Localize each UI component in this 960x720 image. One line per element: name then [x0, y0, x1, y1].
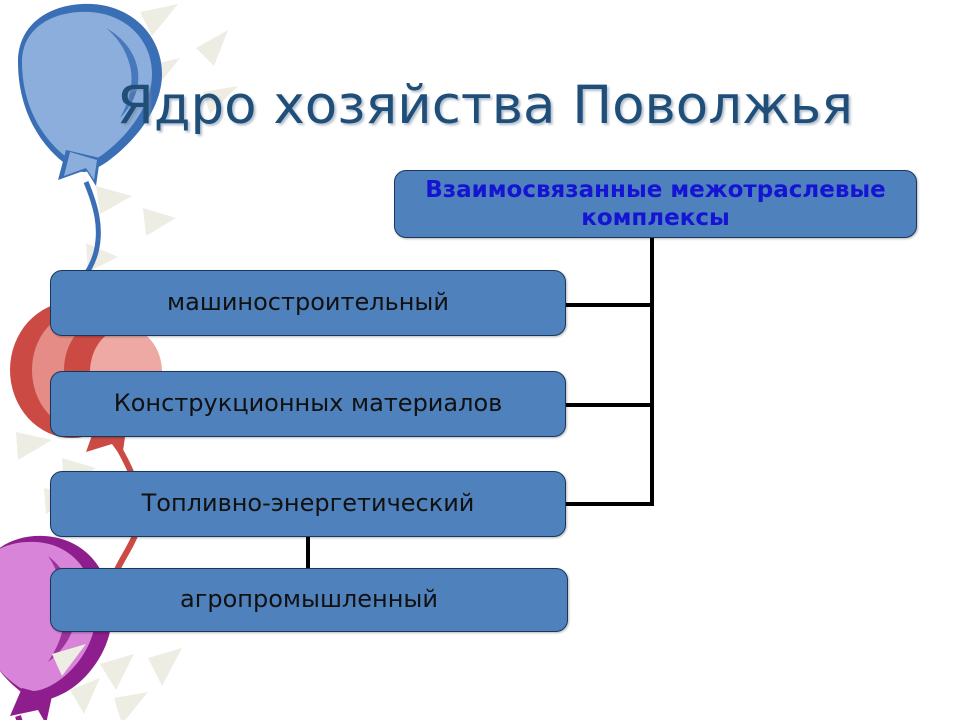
node-construction-materials[interactable]: Конструкционных материалов: [50, 371, 566, 437]
node-fuel-energy-label: Топливно-энергетический: [51, 490, 565, 518]
connector-branch-konstr: [566, 403, 654, 407]
connector-trunk-vertical: [650, 238, 654, 506]
node-agro-industrial-label: агропромышленный: [51, 586, 567, 614]
connector-branch-topl: [566, 502, 654, 506]
node-root-label: Взаимосвязанные межотраслевые комплексы: [395, 176, 916, 232]
node-machine-building[interactable]: машиностроительный: [50, 270, 566, 336]
node-machine-building-label: машиностроительный: [51, 289, 565, 317]
node-root-complexes[interactable]: Взаимосвязанные межотраслевые комплексы: [394, 170, 917, 238]
page-title: Ядро хозяйства Поволжья: [40, 78, 930, 134]
node-agro-industrial[interactable]: агропромышленный: [50, 568, 568, 632]
connector-topl-to-agro: [306, 537, 310, 571]
connector-branch-mash: [566, 303, 654, 307]
confetti-bottom-left: [52, 644, 182, 720]
node-fuel-energy[interactable]: Топливно-энергетический: [50, 471, 566, 537]
confetti-top-left: [86, 4, 238, 272]
slide-canvas: Ядро хозяйства Поволжья Взаимосвязанные …: [0, 0, 960, 720]
node-construction-materials-label: Конструкционных материалов: [51, 390, 565, 418]
